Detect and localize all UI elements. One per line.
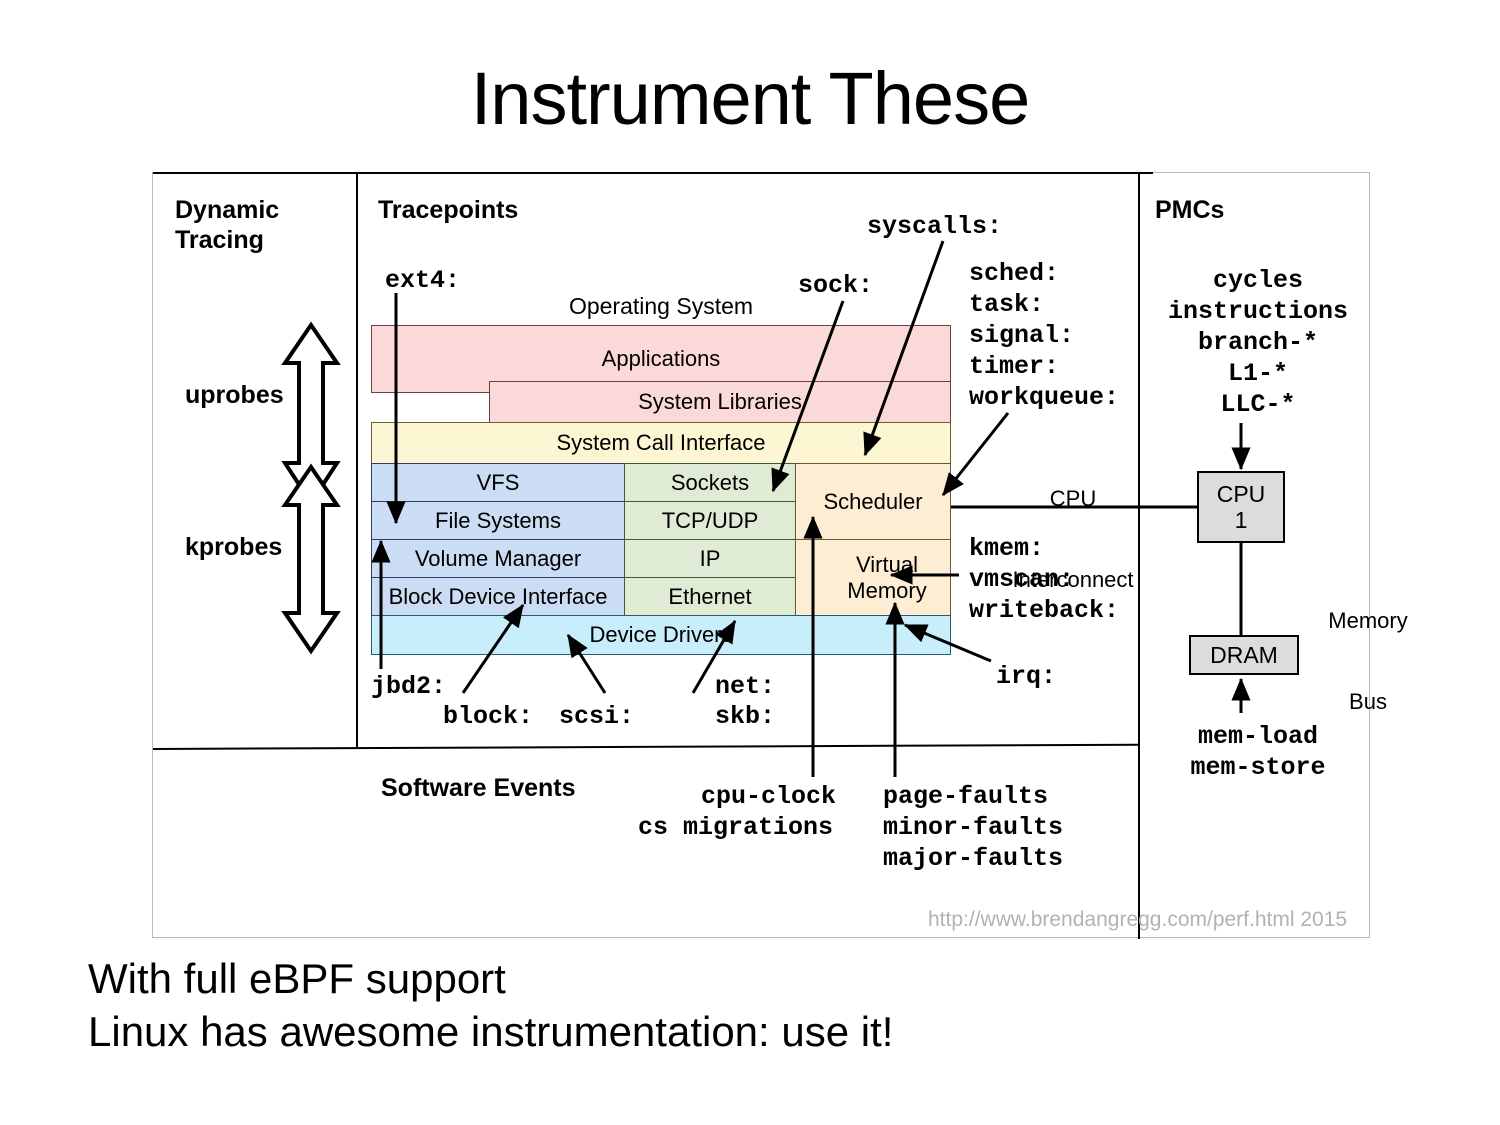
caption-line-1: With full eBPF support <box>88 952 893 1005</box>
memory-bus-line2: Bus <box>1303 688 1433 715</box>
divider-dynamic-tracepoints <box>356 173 358 748</box>
block-block-device-interface: Block Device Interface <box>371 577 625 616</box>
block-virtual-memory: Virtual Memory <box>824 539 951 616</box>
slide-caption: With full eBPF support Linux has awesome… <box>88 952 893 1058</box>
cpu-interconnect-line2: Interconnect <box>993 566 1153 593</box>
pmc-llc: LLC-* <box>1153 389 1363 420</box>
workqueue-label: workqueue: <box>969 382 1119 413</box>
cpu-box-label: CPU <box>1217 481 1266 507</box>
block-volume-manager: Volume Manager <box>371 539 625 578</box>
block-file-systems: File Systems <box>371 501 625 540</box>
virtual-memory-line2: Memory <box>847 578 926 604</box>
heading-tracepoints: Tracepoints <box>378 195 518 225</box>
block-ip: IP <box>624 539 796 578</box>
block-scheduler: Scheduler <box>795 463 951 540</box>
block-system-libraries: System Libraries <box>489 381 951 423</box>
net-label: net: <box>715 671 775 702</box>
task-label: task: <box>969 289 1044 320</box>
cpu-interconnect-label: CPU Interconnect <box>993 431 1153 647</box>
sched-label: sched: <box>969 258 1059 289</box>
irq-label: irq: <box>996 661 1056 692</box>
memory-bus-label: Memory Bus <box>1303 553 1433 769</box>
block-ethernet: Ethernet <box>624 577 796 616</box>
signal-label: signal: <box>969 320 1074 351</box>
pmc-instructions: instructions <box>1153 296 1363 327</box>
cpu-interconnect-line1: CPU <box>993 485 1153 512</box>
sock-label: sock: <box>798 270 873 301</box>
divider-software-events <box>153 744 1138 750</box>
cpu-box: CPU 1 <box>1197 471 1285 543</box>
kprobes-label: kprobes <box>185 533 282 562</box>
heading-pmcs: PMCs <box>1155 195 1224 225</box>
sw-major-faults: major-faults <box>883 843 1063 874</box>
credit-url: http://www.brendangregg.com/perf.html 20… <box>928 908 1347 932</box>
uprobes-label: uprobes <box>185 381 284 410</box>
sw-page-faults: page-faults <box>883 781 1048 812</box>
os-stack: Applications System Libraries System Cal… <box>371 325 951 655</box>
cpu-box-number: 1 <box>1235 507 1248 533</box>
kprobes-arrow <box>285 467 337 651</box>
block-system-call-interface: System Call Interface <box>371 422 951 464</box>
pmc-cycles: cycles <box>1153 265 1363 296</box>
frame-top-rule <box>153 172 1153 174</box>
virtual-memory-line1: Virtual <box>856 552 918 578</box>
block-label: block: <box>443 701 533 732</box>
sw-cpu-clock: cpu-clock <box>701 781 836 812</box>
scsi-label: scsi: <box>559 701 634 732</box>
heading-dynamic-tracing-line2: Tracing <box>175 225 345 255</box>
pmc-branch: branch-* <box>1153 327 1363 358</box>
sw-minor-faults: minor-faults <box>883 812 1063 843</box>
memory-bus-line1: Memory <box>1303 607 1433 634</box>
block-device-drivers: Device Drivers <box>371 615 951 655</box>
uprobes-arrow <box>285 325 337 503</box>
page-title: Instrument These <box>0 62 1500 136</box>
caption-line-2: Linux has awesome instrumentation: use i… <box>88 1005 893 1058</box>
timer-label: timer: <box>969 351 1059 382</box>
block-scheduler-spacer <box>795 539 825 616</box>
block-sockets: Sockets <box>624 463 796 502</box>
syscalls-label: syscalls: <box>867 211 1002 242</box>
jbd2-label: jbd2: <box>371 671 446 702</box>
block-tcp-udp: TCP/UDP <box>624 501 796 540</box>
heading-dynamic-tracing: Dynamic Tracing <box>175 195 345 255</box>
heading-dynamic-tracing-line1: Dynamic <box>175 195 345 225</box>
heading-software-events: Software Events <box>381 773 576 803</box>
block-vfs: VFS <box>371 463 625 502</box>
sw-cs-migrations: cs migrations <box>638 812 833 843</box>
ext4-label: ext4: <box>385 265 460 296</box>
dram-box: DRAM <box>1189 635 1299 675</box>
instrumentation-diagram: Dynamic Tracing Tracepoints PMCs Softwar… <box>152 172 1370 938</box>
skb-label: skb: <box>715 701 775 732</box>
pmc-l1: L1-* <box>1153 358 1363 389</box>
